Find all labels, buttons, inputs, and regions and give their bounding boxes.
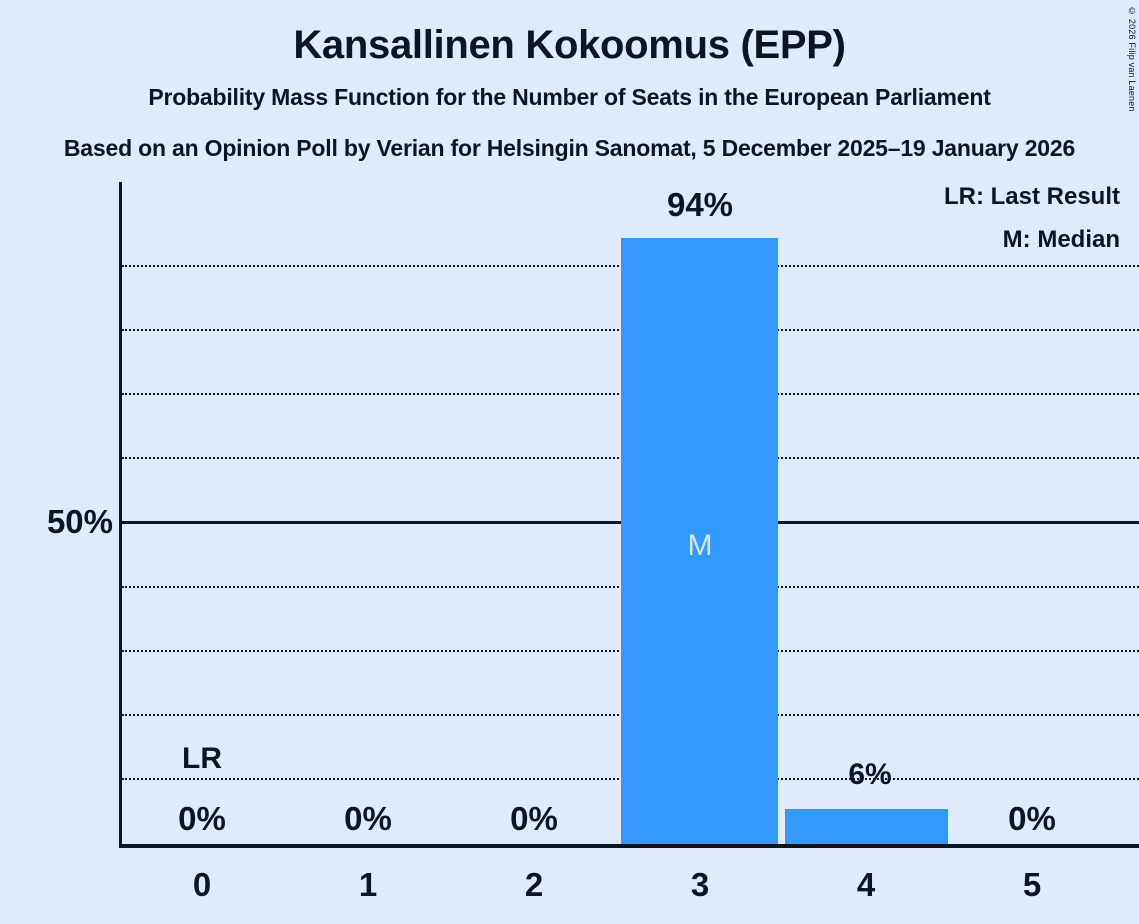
chart-plot-area: 0% 0% 0% 94% 6% 0% M LR 50% 0 1 2 3 4 5 … [0, 0, 1139, 924]
last-result-marker: LR [166, 744, 238, 774]
y-axis-tick-label-50: 50% [47, 505, 113, 538]
bar-label-seats-5: 0% [962, 802, 1102, 835]
bar-label-seats-3: 94% [630, 188, 770, 221]
legend-entry-last-result: LR: Last Result [944, 185, 1120, 209]
y-axis-line [119, 182, 122, 847]
x-axis-tick-label-4: 4 [796, 868, 936, 901]
chart-legend: LR: Last Result M: Median [944, 185, 1120, 271]
bar-label-seats-2: 0% [464, 802, 604, 835]
x-axis-tick-label-5: 5 [962, 868, 1102, 901]
x-axis-line [119, 844, 1139, 848]
x-axis-tick-label-1: 1 [298, 868, 438, 901]
x-axis-tick-label-0: 0 [132, 868, 272, 901]
bar-label-seats-1: 0% [298, 802, 438, 835]
legend-entry-median: M: Median [944, 228, 1120, 252]
bar-label-seats-4: 6% [800, 760, 940, 790]
bar-label-seats-0: 0% [132, 802, 272, 835]
bar-seats-4[interactable] [785, 809, 948, 845]
x-axis-tick-label-2: 2 [464, 868, 604, 901]
median-marker: M [630, 531, 770, 561]
x-axis-tick-label-3: 3 [630, 868, 770, 901]
